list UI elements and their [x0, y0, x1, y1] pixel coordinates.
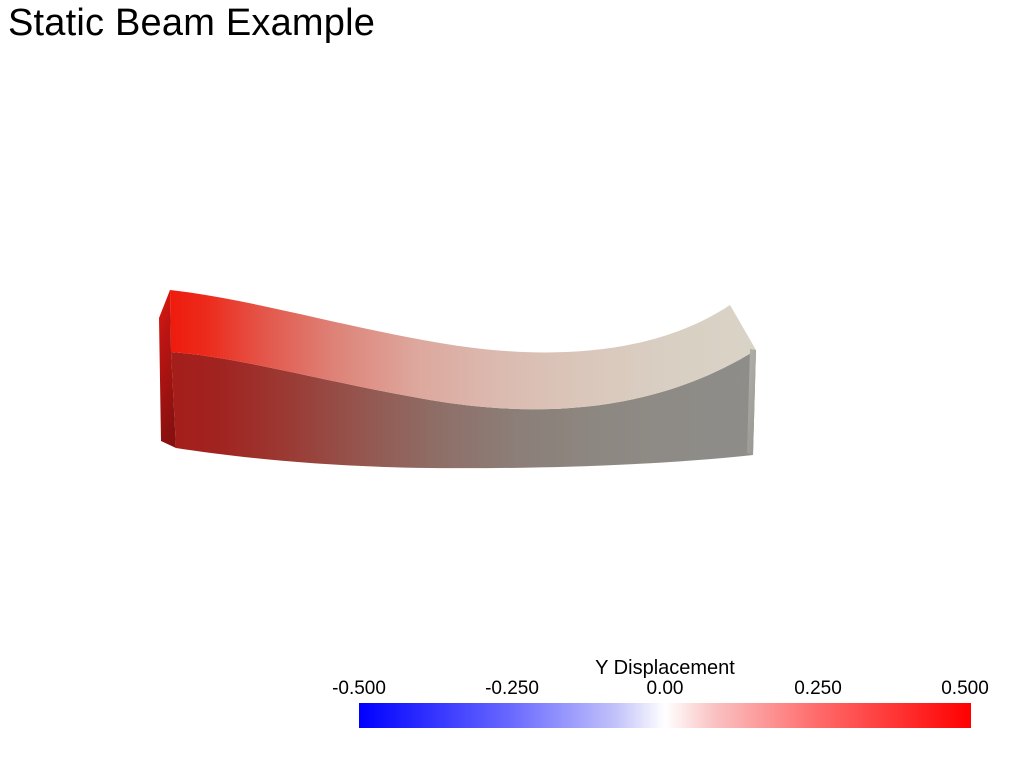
- colorbar-tick-label: 0.00: [647, 678, 684, 700]
- render-window: Static Beam Example: [0, 0, 1024, 768]
- colorbar-title: Y Displacement: [595, 657, 735, 680]
- colorbar-tick-label: -0.250: [485, 678, 539, 700]
- colorbar-tick-label: -0.500: [332, 678, 386, 700]
- colorbar-tick-label: 0.500: [941, 678, 989, 700]
- colorbar-gradient[interactable]: [359, 703, 971, 728]
- 3d-render-view[interactable]: [0, 0, 1024, 768]
- colorbar-tick-label: 0.250: [794, 678, 842, 700]
- beam-mesh: [159, 290, 756, 468]
